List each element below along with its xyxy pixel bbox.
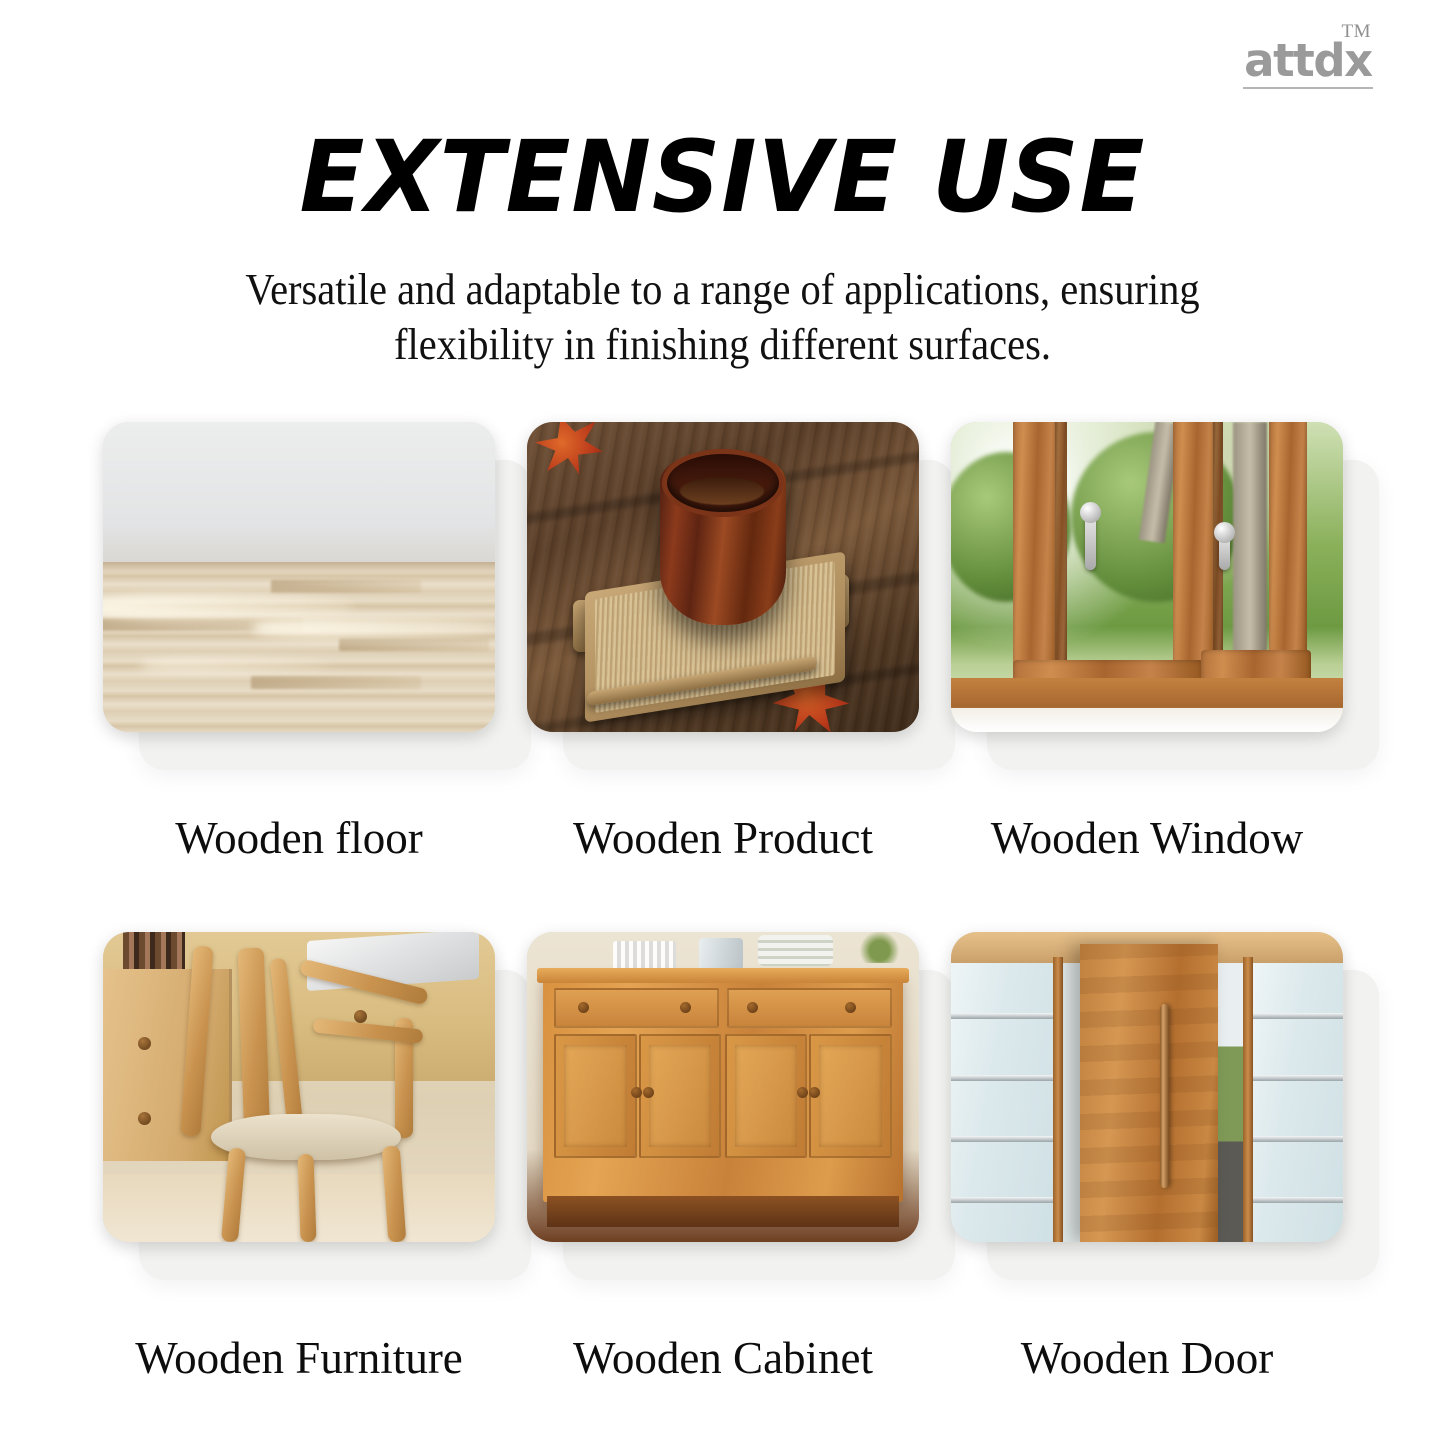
grid-item-wooden-floor[interactable]: Wooden floor [103,422,495,732]
wooden-door-photo [951,932,1343,1242]
grid-item-wooden-product[interactable]: Wooden Product [527,422,919,732]
page-title: EXTENSIVE USE [29,128,1416,227]
grid-item-wooden-cabinet[interactable]: Wooden Cabinet [527,932,919,1242]
wooden-floor-photo [103,422,495,732]
window-handle-icon [1085,514,1096,570]
grid-item-wooden-door[interactable]: Wooden Door [951,932,1343,1242]
window-handle-icon [1219,534,1230,570]
item-caption: Wooden Window [927,816,1367,861]
item-caption: Wooden Furniture [79,1336,519,1381]
grid-item-wooden-furniture[interactable]: Wooden Furniture [103,932,495,1242]
page-subtitle-line-2: flexibility in finishing different surfa… [394,320,1051,369]
item-caption: Wooden floor [79,816,519,861]
application-row: Wooden floor [0,422,1445,932]
application-row: Wooden Furniture [0,932,1445,1442]
item-caption: Wooden Cabinet [503,1336,943,1381]
item-caption: Wooden Door [927,1336,1367,1381]
item-caption: Wooden Product [503,816,943,861]
page-subtitle-line-1: Versatile and adaptable to a range of ap… [245,265,1199,314]
page-subtitle: Versatile and adaptable to a range of ap… [168,262,1277,373]
image-card[interactable] [527,422,919,732]
wooden-cabinet-photo [527,932,919,1242]
brand-logo: TM attdx [1243,22,1373,89]
brand-underline [1243,87,1373,89]
image-card[interactable] [103,422,495,732]
image-card[interactable] [103,932,495,1242]
image-card[interactable] [527,932,919,1242]
brand-wordmark: attdx [1243,37,1373,84]
wooden-window-photo [951,422,1343,732]
wooden-product-photo [527,422,919,732]
door-handle-icon [1160,1004,1169,1189]
application-grid: Wooden floor [0,422,1445,1442]
image-card[interactable] [951,422,1343,732]
image-card[interactable] [951,932,1343,1242]
grid-item-wooden-window[interactable]: Wooden Window [951,422,1343,732]
wooden-furniture-photo [103,932,495,1242]
